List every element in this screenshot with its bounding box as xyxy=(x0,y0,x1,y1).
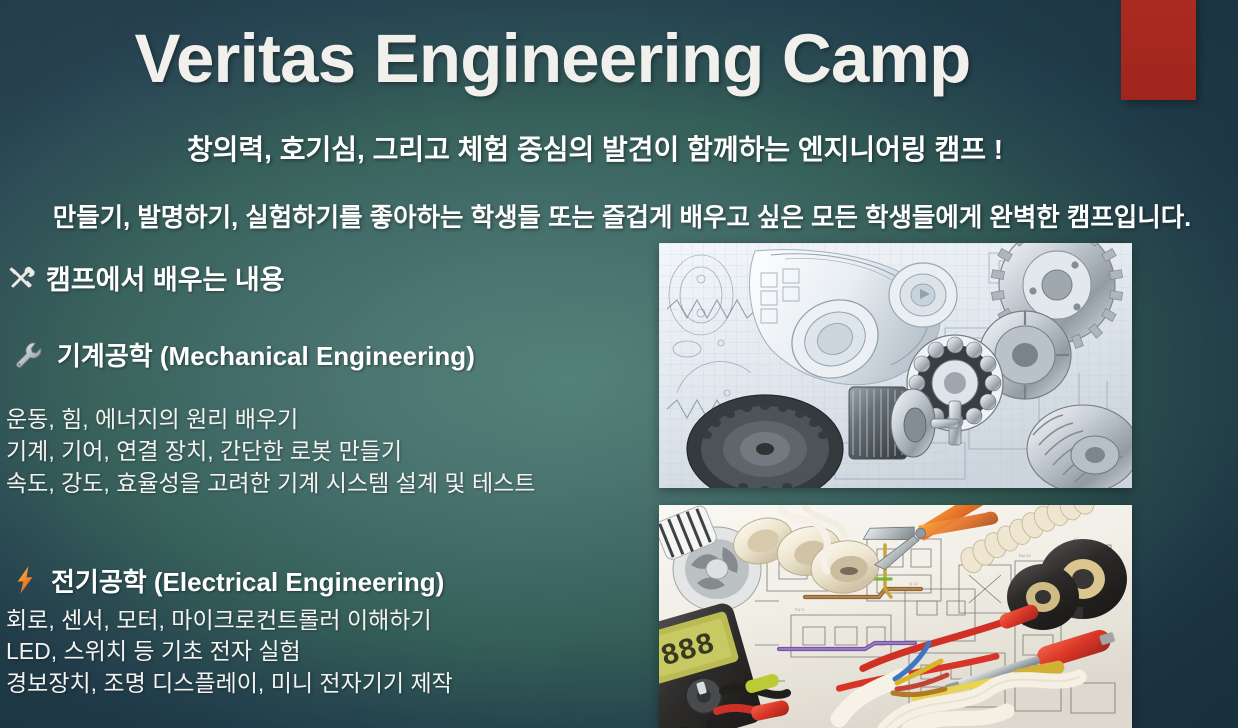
topic-bullets-electrical: 회로, 센서, 모터, 마이크로컨트롤러 이해하기 LED, 스위치 등 기초 … xyxy=(6,605,654,701)
accent-bar xyxy=(1121,0,1196,100)
page-title: Veritas Engineering Camp xyxy=(0,24,1105,94)
lightning-bolt-icon xyxy=(12,565,38,595)
wrench-icon xyxy=(14,340,44,370)
topic-title-mechanical: 기계공학 (Mechanical Engineering) xyxy=(57,336,475,373)
curriculum-column: 캠프에서 배우는 내용 기계공학 (Mechanical En xyxy=(6,258,654,700)
subtitle: 창의력, 호기심, 그리고 체험 중심의 발견이 함께하는 엔지니어링 캠프 ! xyxy=(0,128,1190,168)
curriculum-heading-label: 캠프에서 배우는 내용 xyxy=(46,258,285,297)
curriculum-heading: 캠프에서 배우는 내용 xyxy=(6,258,654,297)
electrical-tools-photo: L1 NK2.4 Q 12SB-1 FU 3XT 19 EM 02A3 xyxy=(659,505,1132,728)
topic-heading-electrical: 전기공학 (Electrical Engineering) xyxy=(6,562,654,599)
bullet-item: 기계, 기어, 연결 장치, 간단한 로봇 만들기 xyxy=(6,436,654,468)
bullet-item: 속도, 강도, 효율성을 고려한 기계 시스템 설계 및 테스트 xyxy=(6,468,654,500)
lead-paragraph: 만들기, 발명하기, 실험하기를 좋아하는 학생들 또는 즐겁게 배우고 싶은 … xyxy=(6,197,1238,234)
topic-bullets-mechanical: 운동, 힘, 에너지의 원리 배우기 기계, 기어, 연결 장치, 간단한 로봇… xyxy=(6,404,654,500)
bullet-item: 회로, 센서, 모터, 마이크로컨트롤러 이해하기 xyxy=(6,605,654,637)
bullet-item: LED, 스위치 등 기초 전자 실험 xyxy=(6,636,654,668)
topic-heading-mechanical: 기계공학 (Mechanical Engineering) xyxy=(6,336,654,373)
bullet-item: 운동, 힘, 에너지의 원리 배우기 xyxy=(6,404,654,436)
topic-title-electrical: 전기공학 (Electrical Engineering) xyxy=(51,562,444,599)
mechanical-parts-photo xyxy=(659,243,1132,488)
hammer-and-wrench-icon xyxy=(6,263,36,293)
presentation-slide: Veritas Engineering Camp 창의력, 호기심, 그리고 체… xyxy=(0,0,1238,728)
bullet-item: 경보장치, 조명 디스플레이, 미니 전자기기 제작 xyxy=(6,668,654,700)
